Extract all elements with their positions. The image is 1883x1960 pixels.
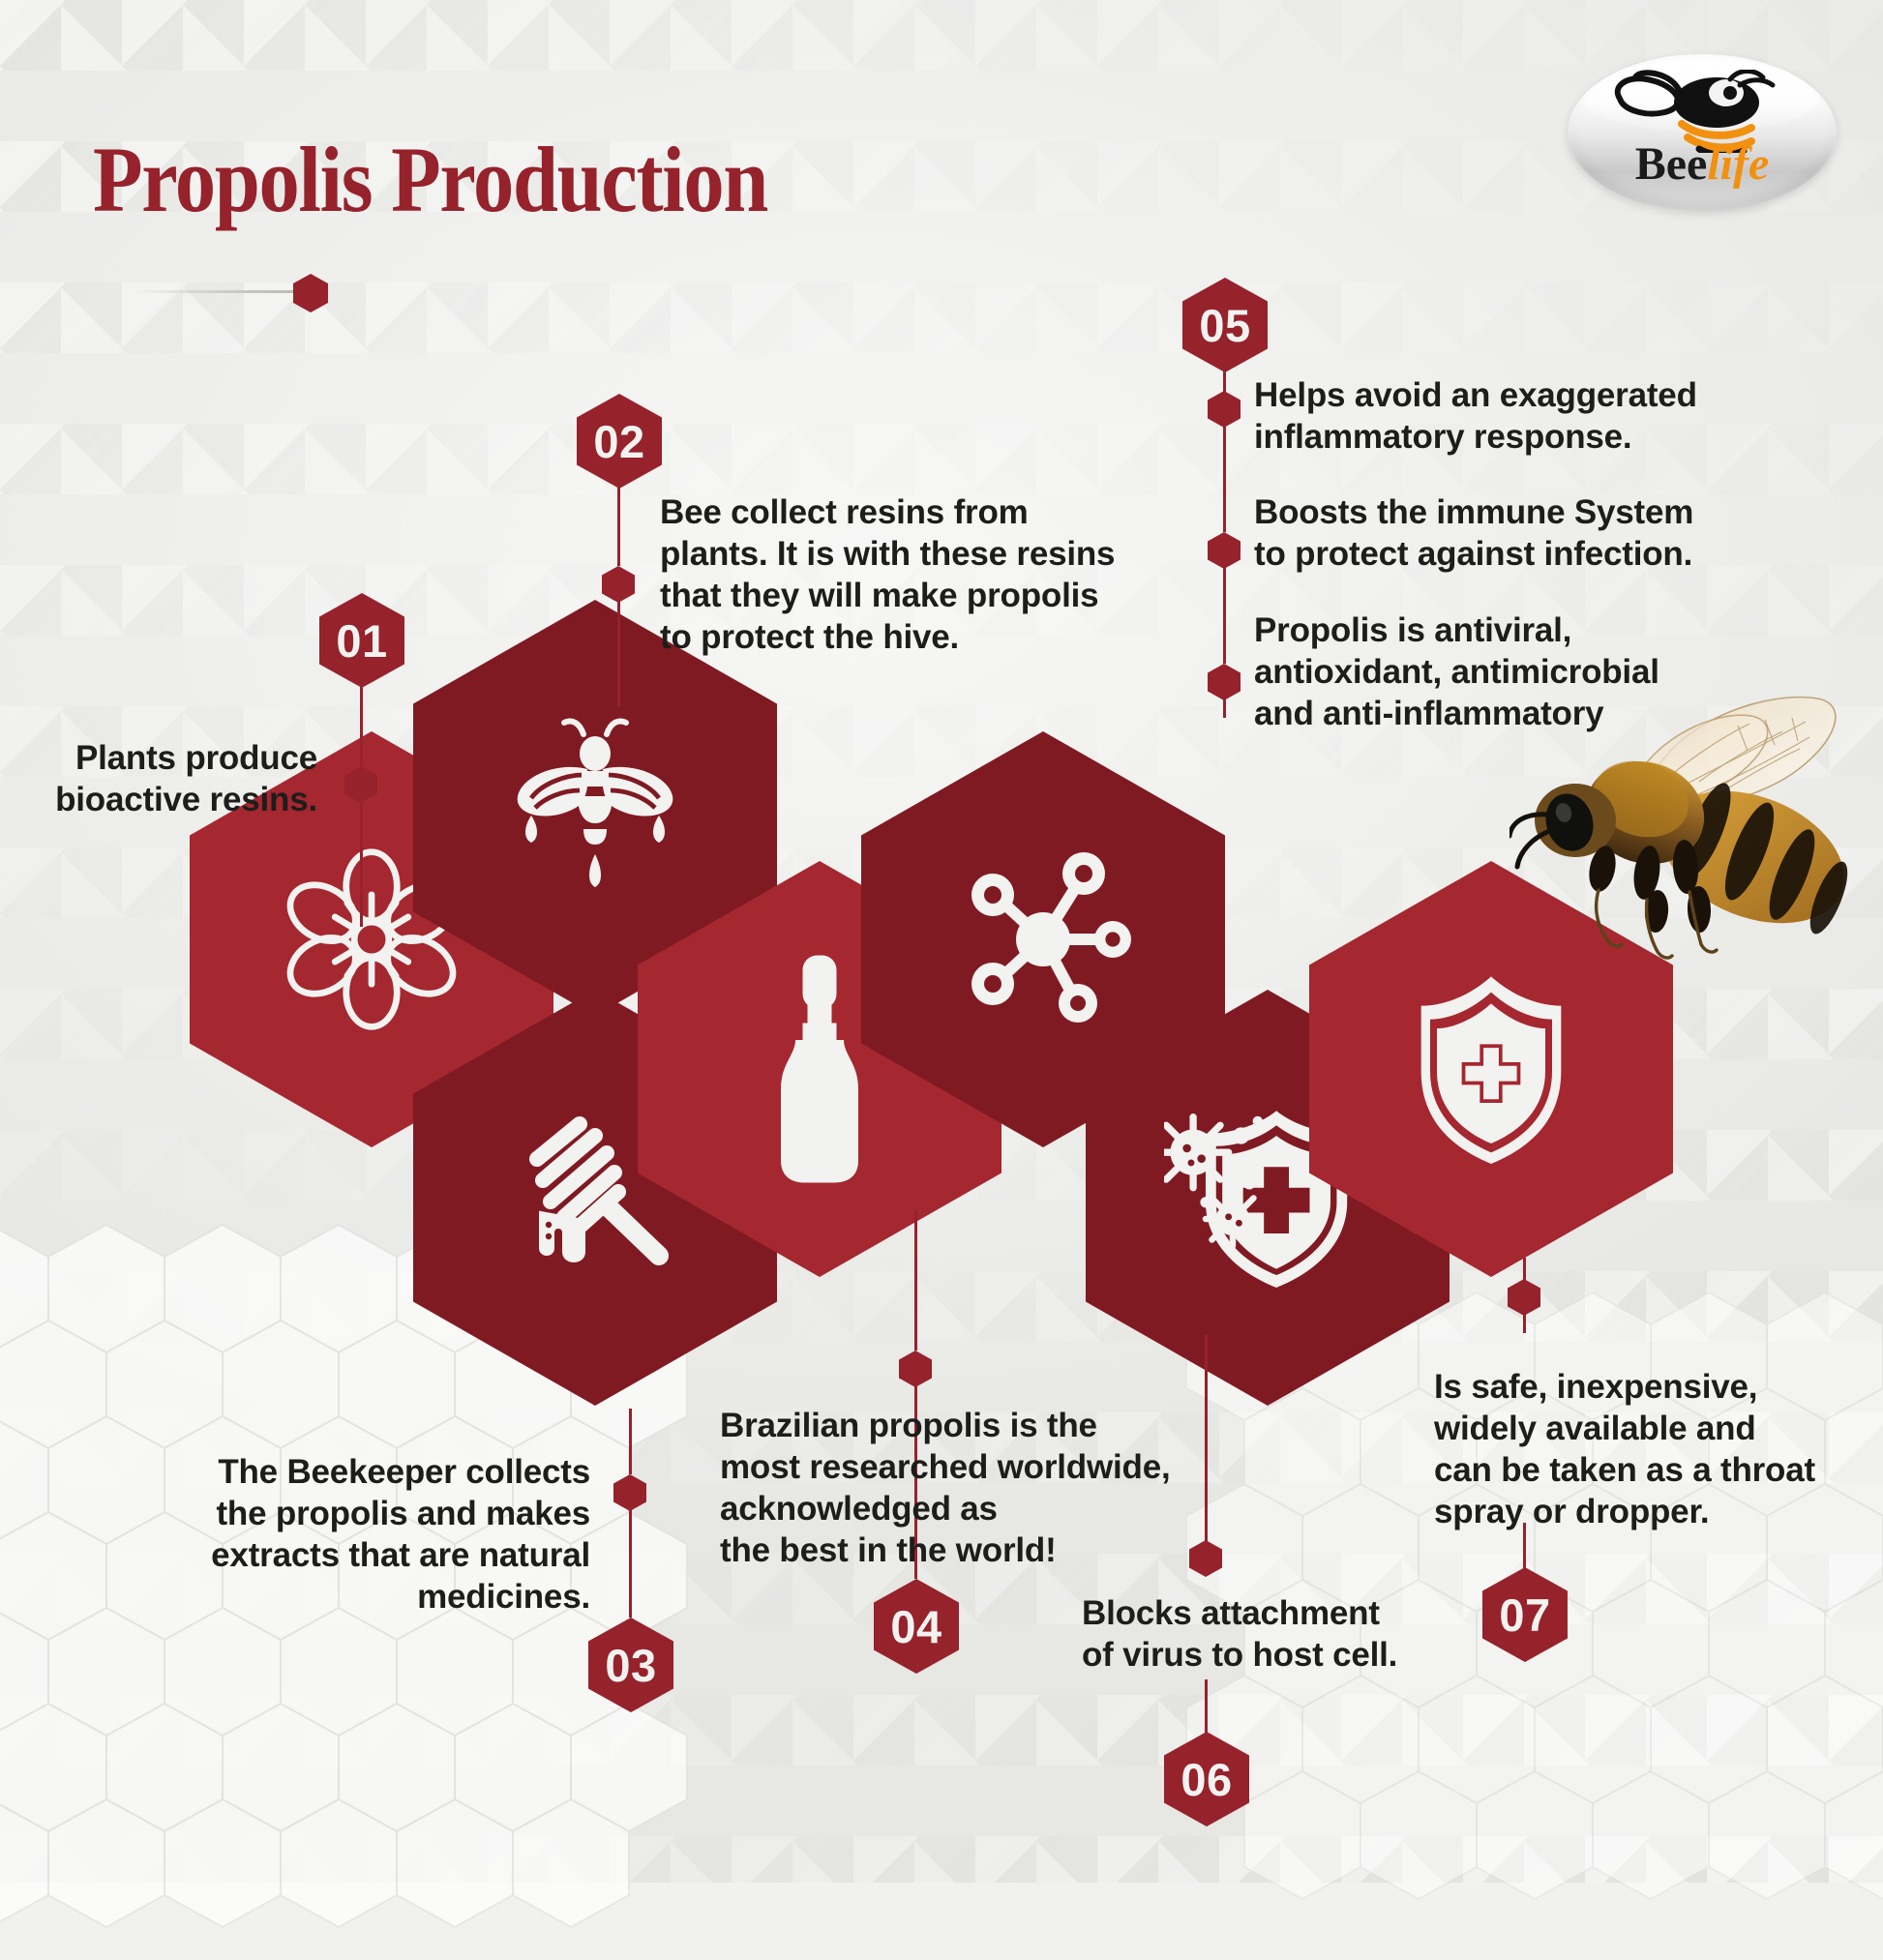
step-text-07: Is safe, inexpensive,widely available an… — [1434, 1366, 1840, 1532]
step-text-04: Brazilian propolis is themost researched… — [720, 1405, 1194, 1571]
connector-line-03b — [629, 1509, 632, 1618]
title-hexagon-bullet-icon — [293, 274, 328, 312]
brand-logo[interactable]: Beelife — [1568, 54, 1837, 211]
connector-line-05c — [1223, 567, 1226, 664]
step-text-02: Bee collect resins fromplants. It is wit… — [660, 491, 1144, 658]
connector-line-02a — [617, 485, 620, 566]
bee-icon — [498, 711, 692, 905]
page-title: Propolis Production — [93, 126, 767, 233]
logo-wordmark: Beelife — [1568, 141, 1837, 188]
connector-line-06a — [1205, 1335, 1208, 1558]
medical-shield-icon — [1409, 967, 1573, 1171]
step-text-05-p2: Boosts the immune Systemto protect again… — [1254, 491, 1796, 575]
molecule-icon — [946, 843, 1140, 1036]
connector-line-01a — [360, 684, 363, 766]
step-text-01: Plants producebioactive resins. — [46, 737, 317, 820]
title-rule — [135, 290, 305, 293]
connector-line-04a — [914, 1209, 917, 1351]
logo-word-life: life — [1707, 138, 1769, 190]
connector-line-02b — [617, 601, 620, 707]
connector-line-01b — [360, 801, 363, 927]
connector-line-05b — [1223, 426, 1226, 532]
connector-line-05d — [1223, 698, 1226, 718]
connector-line-03a — [629, 1409, 632, 1474]
step-text-05-p3: Propolis is antiviral,antioxidant, antim… — [1254, 609, 1796, 734]
logo-word-bee: Bee — [1635, 138, 1708, 190]
step-text-03: The Beekeeper collectsthe propolis and m… — [145, 1451, 590, 1618]
step-text-05-p1: Helps avoid an exaggeratedinflammatory r… — [1254, 374, 1796, 458]
